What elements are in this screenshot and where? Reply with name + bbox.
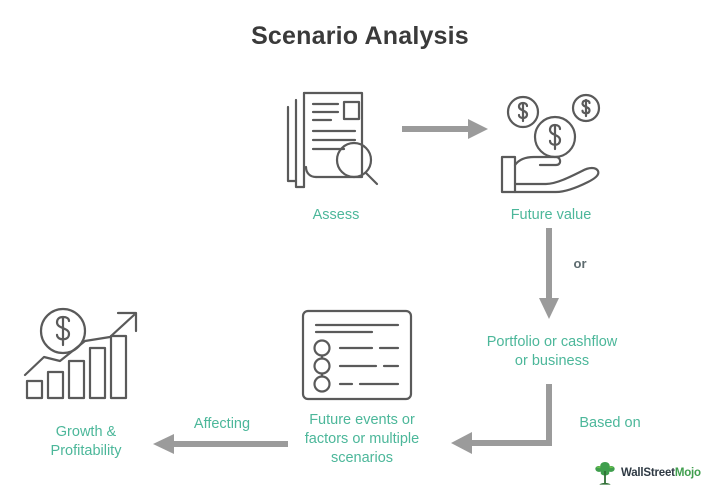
node-label-future-events: Future events or factors or multiple sce… bbox=[272, 411, 452, 468]
wallstreetmojo-logo: WallStreetMojo bbox=[594, 458, 712, 488]
connector-label-or: or bbox=[560, 256, 600, 271]
tree-logo-icon bbox=[594, 461, 616, 485]
hand-with-coins-icon bbox=[494, 85, 612, 195]
arrow-future-value-to-portfolio bbox=[536, 226, 562, 322]
connector-label-based-on: Based on bbox=[555, 414, 665, 432]
node-label-future-value: Future value bbox=[466, 206, 636, 225]
arrow-future-events-to-growth bbox=[150, 432, 290, 456]
logo-text-main: WallStreet bbox=[621, 467, 675, 479]
node-label-growth: Growth & Profitability bbox=[10, 423, 162, 461]
checklist-timeline-icon bbox=[300, 308, 416, 402]
logo-text: WallStreetMojo bbox=[621, 467, 701, 479]
page-title: Scenario Analysis bbox=[0, 22, 720, 51]
node-label-assess: Assess bbox=[256, 206, 416, 225]
logo-text-accent: Mojo bbox=[675, 467, 701, 479]
node-label-portfolio: Portfolio or cashflow or business bbox=[446, 333, 658, 371]
arrow-assess-to-future-value bbox=[400, 116, 492, 142]
arrow-portfolio-to-future-events bbox=[448, 382, 564, 454]
growth-bar-chart-icon bbox=[22, 303, 150, 403]
documents-magnifier-icon bbox=[276, 85, 396, 195]
diagram-canvas: Scenario Analysis bbox=[0, 0, 720, 497]
connector-label-affecting: Affecting bbox=[172, 415, 272, 433]
